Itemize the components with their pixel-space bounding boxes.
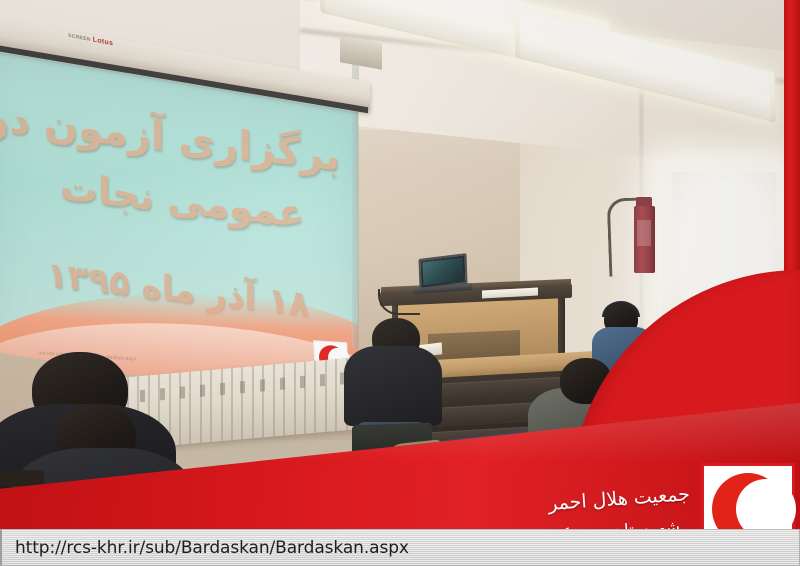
laptop-display bbox=[423, 258, 464, 286]
fire-extinguisher-icon bbox=[634, 206, 655, 273]
fire-extinguisher-label bbox=[637, 220, 651, 246]
url-bar: http://rcs-khr.ir/sub/Bardaskan/Bardaska… bbox=[0, 529, 800, 566]
person-torso bbox=[344, 346, 442, 426]
photo-container: برگزاری آزمون دوره عمومی نجات ۱۸ آذر ماه… bbox=[0, 0, 800, 566]
website-url[interactable]: http://rcs-khr.ir/sub/Bardaskan/Bardaska… bbox=[15, 538, 409, 558]
chair-arm bbox=[0, 470, 44, 486]
laptop-icon bbox=[418, 253, 467, 290]
slide-content: برگزاری آزمون دوره عمومی نجات ۱۸ آذر ماه… bbox=[0, 60, 358, 403]
